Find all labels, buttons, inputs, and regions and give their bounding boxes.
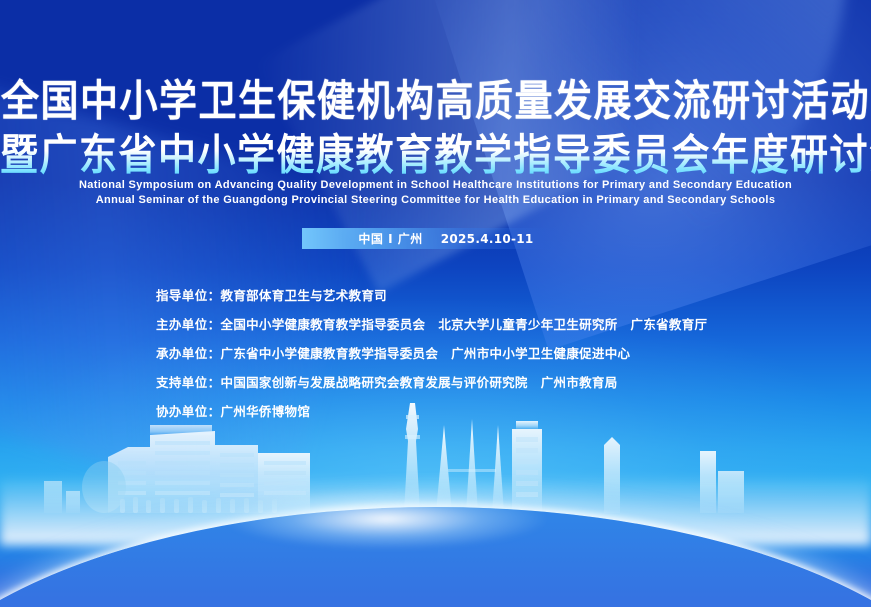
organization-label: 指导单位： (156, 288, 221, 304)
organization-name: 中国国家创新与发展战略研究会教育发展与评价研究院 (221, 375, 528, 390)
organization-row: 协办单位：广州华侨博物馆 (156, 404, 776, 420)
organization-values: 中国国家创新与发展战略研究会教育发展与评价研究院广州市教育局 (221, 375, 618, 391)
organization-values: 全国中小学健康教育教学指导委员会北京大学儿童青少年卫生研究所广东省教育厅 (221, 317, 708, 333)
organization-list: 指导单位：教育部体育卫生与艺术教育司主办单位：全国中小学健康教育教学指导委员会北… (156, 288, 776, 433)
organization-row: 承办单位：广东省中小学健康教育教学指导委员会广州市中小学卫生健康促进中心 (156, 346, 776, 362)
organization-name: 广东省教育厅 (631, 317, 708, 332)
organization-values: 广东省中小学健康教育教学指导委员会广州市中小学卫生健康促进中心 (221, 346, 631, 362)
organization-name: 广州市中小学卫生健康促进中心 (451, 346, 630, 361)
poster-subtitle: National Symposium on Advancing Quality … (0, 178, 871, 208)
organization-name: 教育部体育卫生与艺术教育司 (221, 288, 387, 303)
organization-name: 广东省中小学健康教育教学指导委员会 (221, 346, 439, 361)
organization-name: 广州市教育局 (541, 375, 618, 390)
organization-values: 广州华侨博物馆 (221, 404, 311, 420)
organization-name: 北京大学儿童青少年卫生研究所 (438, 317, 617, 332)
organization-row: 支持单位：中国国家创新与发展战略研究会教育发展与评价研究院广州市教育局 (156, 375, 776, 391)
organization-label: 协办单位： (156, 404, 221, 420)
subtitle-line-2: Annual Seminar of the Guangdong Provinci… (0, 193, 871, 208)
organization-values: 教育部体育卫生与艺术教育司 (221, 288, 387, 304)
subtitle-line-1: National Symposium on Advancing Quality … (0, 178, 871, 193)
organization-name: 广州华侨博物馆 (221, 404, 311, 419)
organization-label: 主办单位： (156, 317, 221, 333)
organization-row: 指导单位：教育部体育卫生与艺术教育司 (156, 288, 776, 304)
conference-poster: 全国中小学卫生保健机构高质量发展交流研讨活动 暨广东省中小学健康教育教学指导委员… (0, 0, 871, 607)
title-line-2: 暨广东省中小学健康教育教学指导委员会年度研讨活动 (0, 128, 871, 182)
organization-row: 主办单位：全国中小学健康教育教学指导委员会北京大学儿童青少年卫生研究所广东省教育… (156, 317, 776, 333)
badge-date: 2025.4.10-11 (441, 232, 534, 246)
title-line-1: 全国中小学卫生保健机构高质量发展交流研讨活动 (0, 74, 871, 128)
organization-label: 支持单位： (156, 375, 221, 391)
location-date-badge: 中国 I 广州 2025.4.10-11 (302, 228, 564, 249)
organization-name: 全国中小学健康教育教学指导委员会 (221, 317, 426, 332)
badge-location: 中国 I 广州 (358, 230, 422, 247)
poster-title: 全国中小学卫生保健机构高质量发展交流研讨活动 暨广东省中小学健康教育教学指导委员… (0, 74, 871, 176)
organization-label: 承办单位： (156, 346, 221, 362)
